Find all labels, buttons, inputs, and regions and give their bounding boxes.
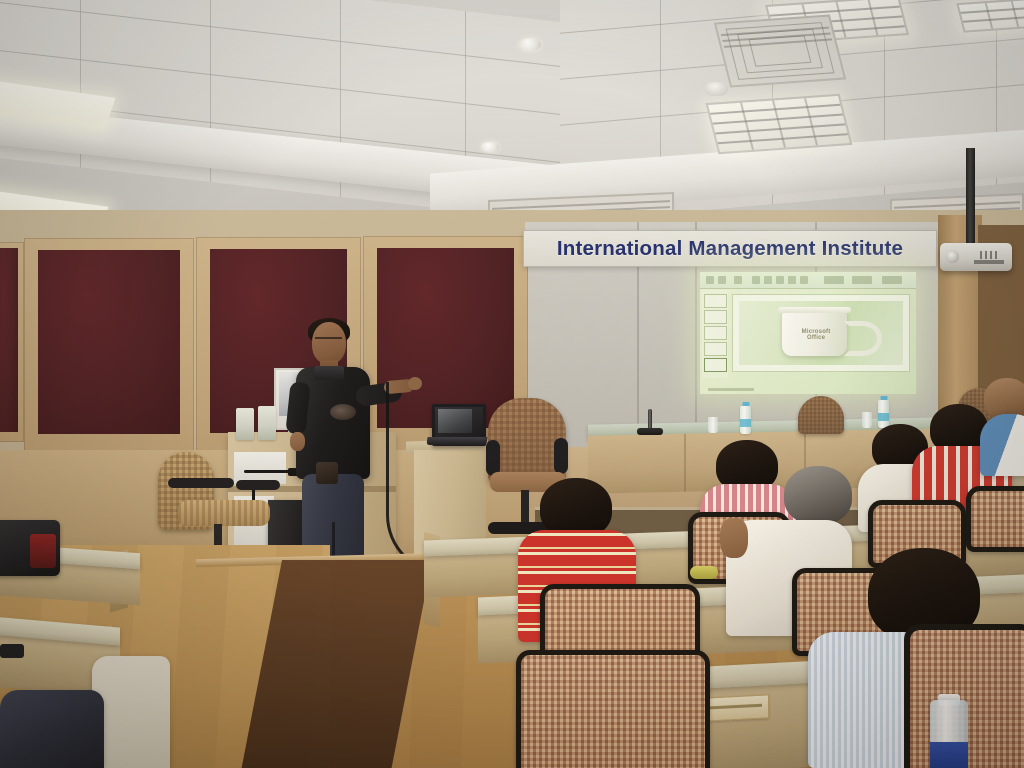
- institute-sign-board: International Management Institute: [523, 230, 937, 267]
- lecture-hall-photo: International Management Institute: [0, 0, 1024, 768]
- round-downlight-1: [519, 38, 541, 51]
- office-chair-armrest-left: [168, 478, 234, 488]
- head-table-chair-1[interactable]: [798, 396, 844, 434]
- office-chair-armrest-right: [236, 480, 280, 490]
- water-bottle-label: [930, 742, 968, 768]
- audience-chair-r1-c[interactable]: [966, 486, 1024, 552]
- bag-strap: [30, 534, 56, 568]
- powerpoint-toolbar: [700, 272, 916, 289]
- audience-member-bald: [980, 378, 1024, 474]
- mug-lid-icon: [778, 307, 850, 312]
- powerpoint-current-slide: Microsoft Office: [732, 294, 910, 372]
- ac-diffuser-vent-1: [714, 15, 846, 88]
- left-speaker: [236, 408, 254, 440]
- slide-mug-photo: Microsoft Office: [739, 301, 903, 365]
- office-chair-armrest-center-right: [554, 438, 568, 474]
- powerpoint-slide-thumbnail-panel: [702, 290, 728, 378]
- desk-item-dark-left: [0, 644, 24, 658]
- institute-sign-text: International Management Institute: [557, 237, 903, 261]
- acoustic-wall-panel-1: [24, 238, 194, 456]
- presenter-collar: [314, 366, 344, 380]
- projector-mount-pole: [966, 148, 975, 248]
- mug-handle-icon: [844, 321, 882, 355]
- desk-booklet: [705, 694, 769, 721]
- recessed-grille-light-3: [956, 0, 1024, 33]
- right-speaker: [258, 406, 276, 440]
- acoustic-wall-panel-0: [0, 242, 24, 442]
- projection-screen: Microsoft Office: [700, 272, 916, 394]
- booklet-text-line: [710, 704, 762, 710]
- audience-chair-r3-a[interactable]: [516, 650, 710, 768]
- office-chair-seat-left[interactable]: [178, 500, 270, 526]
- audience-member-left-jeans: [0, 690, 104, 768]
- slide-caption-placeholder: [708, 388, 754, 391]
- cable-1: [244, 470, 290, 473]
- projector-lens: [946, 250, 959, 263]
- mug-office-logo: Microsoft Office: [785, 329, 847, 341]
- mug-logo-line2: Office: [785, 335, 847, 341]
- presenter-belt-pouch: [316, 462, 338, 484]
- presenter-glasses-icon: [315, 337, 342, 345]
- office-chair-armrest-center-left: [486, 440, 500, 476]
- drinking-glass-1: [708, 417, 718, 433]
- round-downlight-2: [481, 142, 499, 152]
- desk-item-yellow: [690, 566, 718, 579]
- audience-hand-on-face: [720, 518, 748, 558]
- microphone-base-1: [637, 428, 663, 435]
- water-bottle-1: [740, 406, 751, 434]
- recessed-grille-light-1: [706, 94, 853, 154]
- presenter-shirt-graphic: [330, 404, 356, 420]
- presenter-left-hand: [290, 432, 305, 451]
- smoke-detector: [704, 82, 728, 96]
